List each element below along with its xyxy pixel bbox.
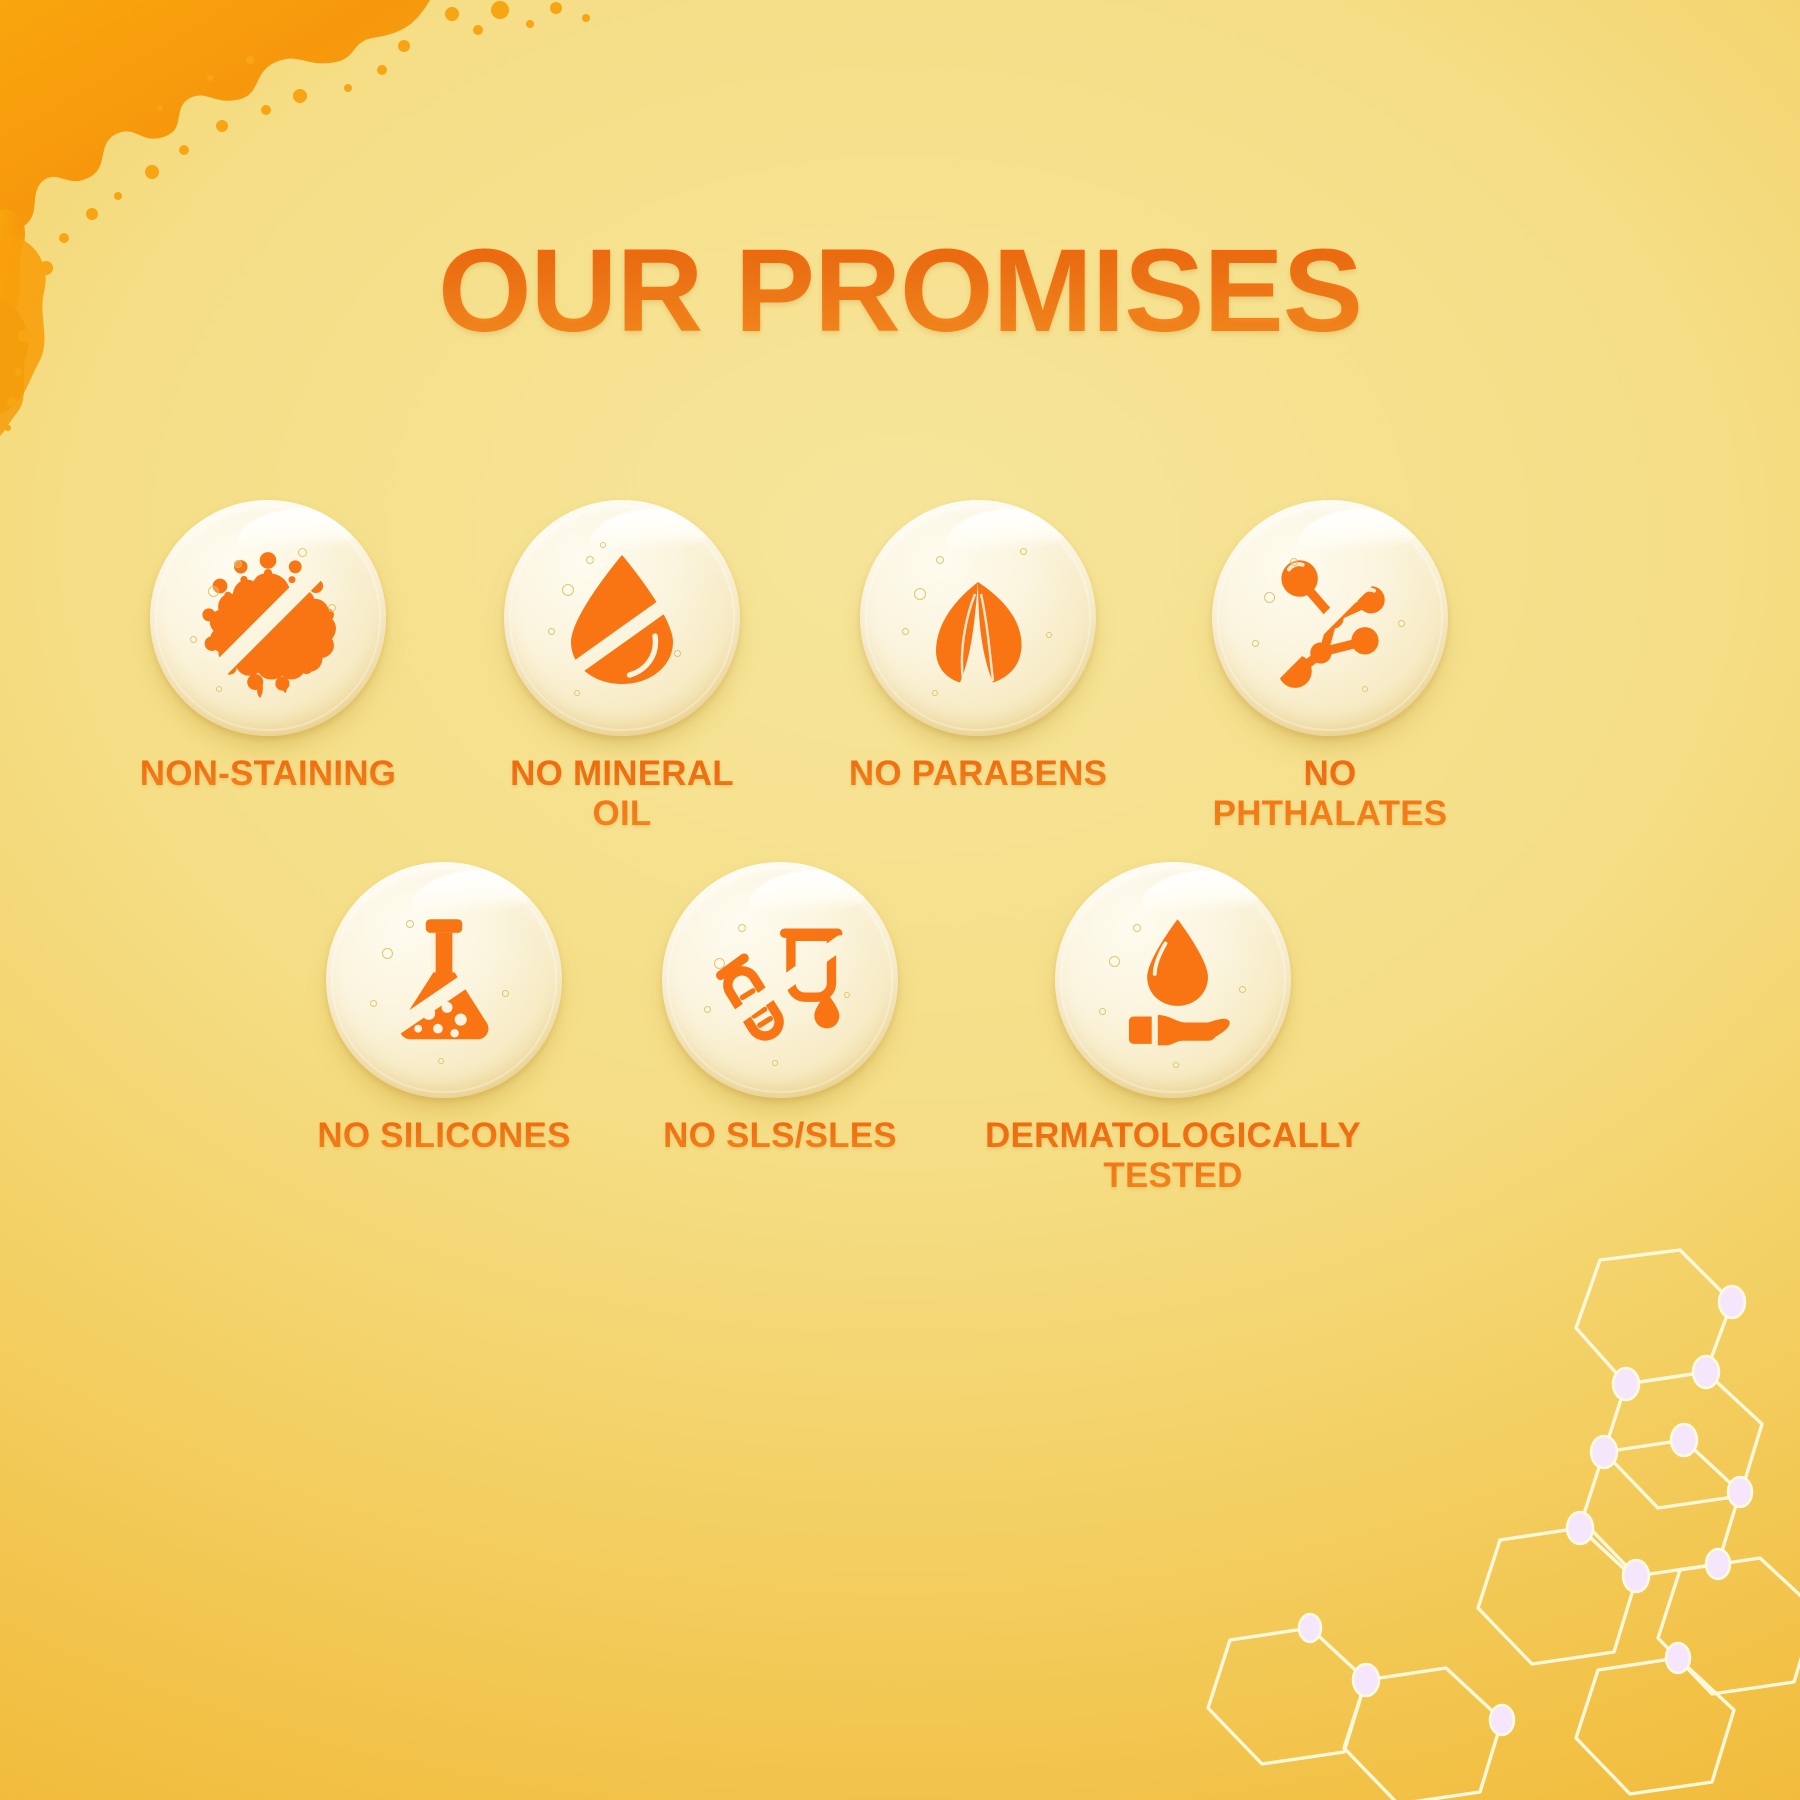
droplet-on-hand-icon (1097, 904, 1249, 1056)
bubble-micro-dot (1290, 558, 1298, 566)
bubble-micro-dot (1398, 620, 1405, 627)
flask-slashed-icon (368, 904, 520, 1056)
bubble-micro-dot (562, 584, 574, 596)
promise-bubble (504, 500, 740, 736)
bubble-micro-dot (1239, 986, 1246, 993)
promise-bubble (860, 500, 1096, 736)
bubble-micro-dot (674, 650, 681, 657)
promise-label: DERMATOLOGICALLY TESTED (985, 1116, 1361, 1196)
promise-no-silicones[interactable]: NO SILICONES (314, 862, 574, 1156)
bubble-micro-dot (574, 690, 580, 696)
promise-label: NON-STAINING (140, 754, 396, 794)
promise-bubble (326, 862, 562, 1098)
promise-label: NO SLS/SLES (663, 1116, 897, 1156)
bubble-micro-dot (1133, 924, 1141, 932)
bubble-micro-dot (1362, 686, 1368, 692)
bubble-micro-dot (586, 556, 594, 564)
bubble-micro-dot (1173, 1062, 1179, 1068)
stain-splat-slashed-icon (188, 538, 348, 698)
promise-non-staining[interactable]: NON-STAINING (138, 500, 398, 794)
promise-no-parabens[interactable]: NO PARABENS (848, 500, 1108, 794)
bubble-micro-dot (190, 636, 197, 643)
promise-no-phthalates[interactable]: NO PHTHALATES (1200, 500, 1460, 834)
bubble-micro-dot (548, 628, 555, 635)
promise-label: NO PHTHALATES (1200, 754, 1460, 834)
promise-bubble (150, 500, 386, 736)
bubble-micro-dot (1020, 548, 1027, 555)
bubble-micro-dot (328, 604, 336, 612)
bubble-micro-dot (298, 548, 307, 557)
bubble-micro-dot (1109, 956, 1120, 967)
bubble-micro-dot (714, 958, 725, 969)
oil-droplet-slashed-icon (547, 543, 697, 693)
bubble-micro-dot (234, 560, 242, 568)
bubble-micro-dot (1264, 592, 1275, 603)
molecule-slashed-icon (1254, 542, 1406, 694)
promises-grid: NON-STAINING N (0, 0, 1800, 1800)
bubble-micro-dot (1252, 640, 1259, 647)
test-tube-beaker-slashed-icon (702, 902, 858, 1058)
promise-dermatologically-tested[interactable]: DERMATOLOGICALLY TESTED (1028, 862, 1318, 1196)
promise-label: NO SILICONES (317, 1116, 570, 1156)
bubble-micro-dot (600, 542, 606, 548)
bubble-micro-dot (914, 588, 926, 600)
promise-bubble (1055, 862, 1291, 1098)
bubble-micro-dot (216, 686, 222, 692)
promise-label: NO PARABENS (849, 754, 1107, 794)
bubble-micro-dot (438, 1058, 444, 1064)
bubble-micro-dot (382, 948, 393, 959)
promise-no-sls-sles[interactable]: NO SLS/SLES (650, 862, 910, 1156)
bubble-micro-dot (772, 1060, 778, 1066)
bubble-micro-dot (1046, 632, 1052, 638)
bubble-micro-dot (208, 586, 219, 597)
promise-bubble (662, 862, 898, 1098)
bubble-micro-dot (932, 690, 938, 696)
bubble-micro-dot (738, 924, 746, 932)
bubble-micro-dot (844, 992, 850, 998)
promise-no-mineral-oil[interactable]: NO MINERAL OIL (492, 500, 752, 834)
promise-bubble (1212, 500, 1448, 736)
bubble-micro-dot (936, 556, 944, 564)
promise-label: NO MINERAL OIL (492, 754, 752, 834)
bubble-micro-dot (902, 628, 909, 635)
two-leaves-icon (903, 543, 1053, 693)
bubble-micro-dot (704, 1006, 711, 1013)
bubble-micro-dot (406, 920, 414, 928)
bubble-micro-dot (502, 990, 509, 997)
bubble-micro-dot (370, 1000, 377, 1007)
bubble-micro-dot (1099, 1008, 1106, 1015)
